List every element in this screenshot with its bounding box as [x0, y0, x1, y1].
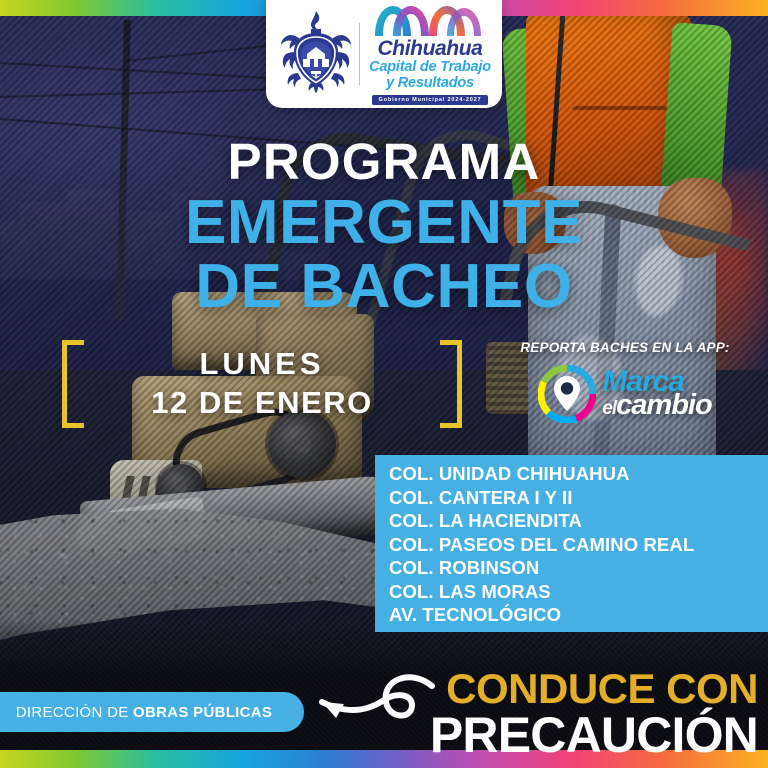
app-promo-block: REPORTA BACHES EN LA APP: Marca elcambio — [500, 340, 750, 423]
date-full: 12 DE ENERO — [62, 384, 462, 423]
list-item: AV. TECNOLÓGICO — [389, 603, 768, 627]
headline-line-3: DE BACHEO — [0, 255, 768, 319]
date-text-group: LUNES 12 DE ENERO — [62, 344, 462, 423]
list-item: COL. LAS MORAS — [389, 580, 768, 604]
list-item: COL. PASEOS DEL CAMINO REAL — [389, 533, 768, 557]
list-item: COL. LA HACIENDITA — [389, 509, 768, 533]
map-pin-icon[interactable] — [538, 365, 596, 423]
logo-city-name: Chihuahua — [378, 38, 483, 59]
logo-tagline: Capital de Trabajo y Resultados — [369, 60, 491, 91]
logo-tagline-line1: Capital de Trabajo — [369, 59, 491, 75]
page-title: PROGRAMA EMERGENTE DE BACHEO — [0, 136, 768, 320]
chihuahua-coat-of-arms-icon — [277, 9, 355, 99]
poster-canvas: Chihuahua Capital de Trabajo y Resultado… — [0, 0, 768, 768]
headline-line-1: PROGRAMA — [0, 136, 768, 187]
list-item: COL. UNIDAD CHIHUAHUA — [389, 462, 768, 486]
date-block: LUNES 12 DE ENERO — [62, 340, 462, 428]
app-name-el: el — [602, 398, 616, 419]
department-badge-label: DIRECCIÓN DE OBRAS PÚBLICAS — [16, 704, 272, 721]
street-list-panel: COL. UNIDAD CHIHUAHUA COL. CANTERA I Y I… — [375, 455, 768, 632]
department-badge: DIRECCIÓN DE OBRAS PÚBLICAS — [0, 692, 304, 732]
list-item: COL. ROBINSON — [389, 556, 768, 580]
logo-text-group: Chihuahua Capital de Trabajo y Resultado… — [369, 3, 491, 104]
logo-divider — [359, 23, 360, 85]
logo-government-period: Gobierno Municipal 2024-2027 — [372, 95, 489, 105]
list-item: COL. CANTERA I Y II — [389, 486, 768, 510]
department-name: OBRAS PÚBLICAS — [133, 704, 272, 721]
app-name: Marca elcambio — [602, 368, 711, 420]
app-name-cambio: elcambio — [602, 392, 711, 420]
logo-tagline-line2: y Resultados — [386, 75, 474, 91]
headline-line-2: EMERGENTE — [0, 191, 768, 255]
department-prefix: DIRECCIÓN DE — [16, 704, 133, 721]
slogan-line-1: CONDUCE CON — [338, 668, 758, 709]
government-logo-card: Chihuahua Capital de Trabajo y Resultado… — [266, 0, 502, 108]
date-weekday: LUNES — [62, 344, 462, 384]
app-name-cambio-word: cambio — [616, 389, 712, 421]
app-logo[interactable]: Marca elcambio — [500, 365, 750, 423]
app-promo-label: REPORTA BACHES EN LA APP: — [500, 340, 750, 355]
slogan-line-2: PRECAUCIÓN — [338, 710, 758, 760]
safety-slogan: CONDUCE CON PRECAUCIÓN — [338, 668, 758, 760]
chihuahua-arches-icon — [371, 3, 489, 37]
